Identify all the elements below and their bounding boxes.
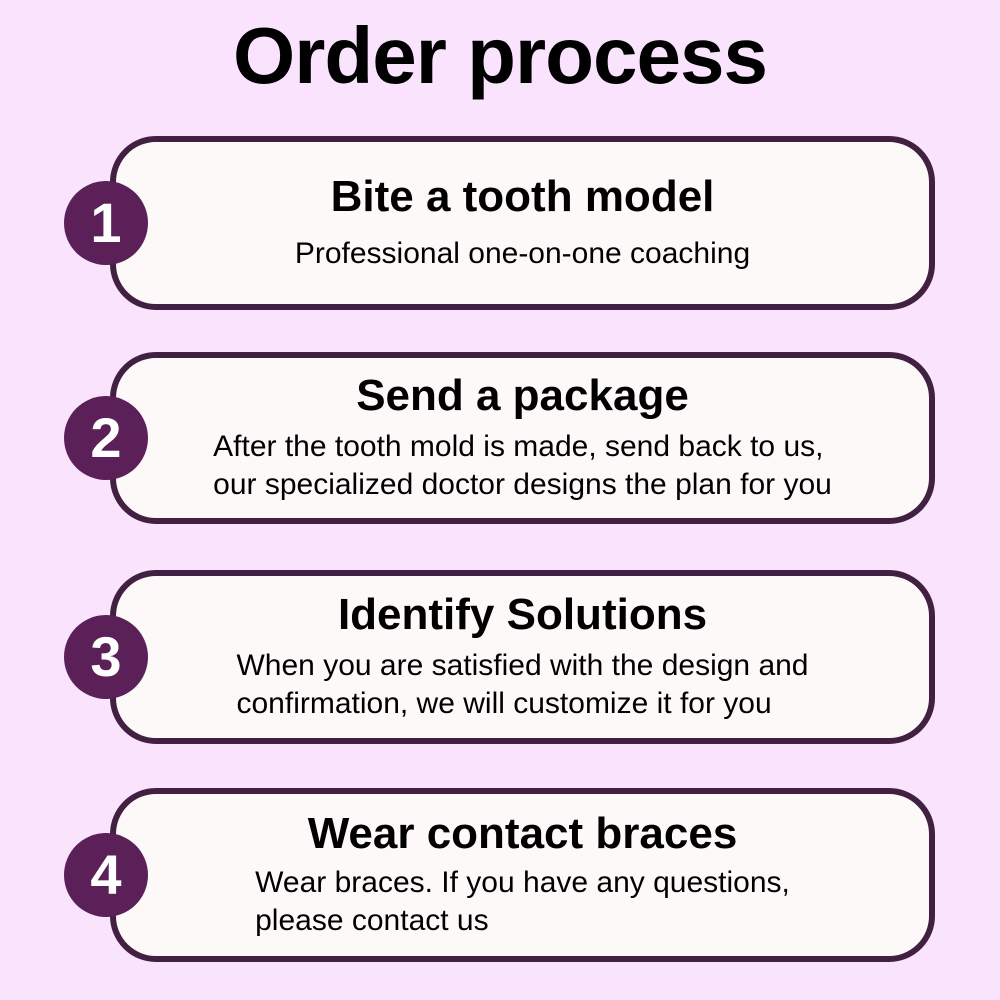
- step-content-3: Identify Solutions When you are satisfie…: [110, 570, 935, 744]
- step-heading-2: Send a package: [356, 370, 689, 422]
- step-item-4: Wear contact braces Wear braces. If you …: [0, 788, 1000, 962]
- step-description-1: Professional one-on-one coaching: [295, 235, 750, 273]
- step-number-1: 1: [90, 195, 121, 251]
- step-content-4: Wear contact braces Wear braces. If you …: [110, 788, 935, 962]
- step-number-badge-1: 1: [64, 181, 148, 265]
- step-description-3: When you are satisfied with the design a…: [236, 647, 808, 723]
- step-heading-4: Wear contact braces: [308, 808, 738, 860]
- step-number-4: 4: [90, 847, 121, 903]
- step-content-2: Send a package After the tooth mold is m…: [110, 352, 935, 524]
- step-heading-3: Identify Solutions: [338, 589, 707, 641]
- step-item-2: Send a package After the tooth mold is m…: [0, 352, 1000, 524]
- step-item-1: Bite a tooth model Professional one-on-o…: [0, 136, 1000, 310]
- step-number-2: 2: [90, 410, 121, 466]
- step-list: Bite a tooth model Professional one-on-o…: [0, 0, 1000, 1000]
- step-item-3: Identify Solutions When you are satisfie…: [0, 570, 1000, 744]
- step-number-badge-4: 4: [64, 833, 148, 917]
- step-description-4: Wear braces. If you have any questions, …: [255, 864, 790, 940]
- step-heading-1: Bite a tooth model: [331, 171, 715, 223]
- step-number-badge-2: 2: [64, 396, 148, 480]
- step-number-badge-3: 3: [64, 615, 148, 699]
- step-content-1: Bite a tooth model Professional one-on-o…: [110, 136, 935, 310]
- step-description-2: After the tooth mold is made, send back …: [213, 428, 832, 504]
- order-process-infographic: Order process Bite a tooth model Profess…: [0, 0, 1000, 1000]
- step-number-3: 3: [90, 629, 121, 685]
